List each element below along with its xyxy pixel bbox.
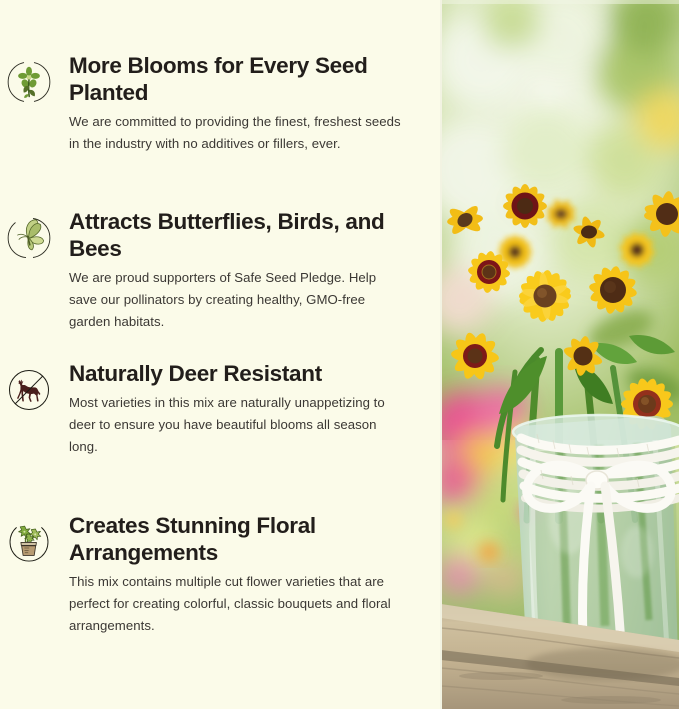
feature-title: Naturally Deer Resistant — [69, 360, 403, 387]
feature-icon-container — [0, 512, 54, 564]
photo-canvas — [441, 0, 679, 709]
features-panel: More Blooms for Every Seed Planted We ar… — [0, 0, 441, 709]
feature-icon-container — [0, 208, 54, 260]
flower-in-circle-icon — [7, 60, 51, 104]
feature-title: Attracts Butterflies, Birds, and Bees — [69, 208, 403, 262]
feature-title: More Blooms for Every Seed Planted — [69, 52, 403, 106]
feature-icon-container — [0, 52, 54, 104]
feature-text-block: Attracts Butterflies, Birds, and Bees We… — [54, 208, 441, 333]
feature-description: We are committed to providing the finest… — [69, 111, 403, 155]
feature-item-more-blooms: More Blooms for Every Seed Planted We ar… — [0, 52, 441, 155]
feature-item-attracts-pollinators: Attracts Butterflies, Birds, and Bees We… — [0, 208, 441, 333]
feature-description: We are proud supporters of Safe Seed Ple… — [69, 267, 403, 333]
panel-divider — [440, 0, 442, 709]
feature-text-block: Naturally Deer Resistant Most varieties … — [54, 360, 441, 458]
feature-description: This mix contains multiple cut flower va… — [69, 571, 403, 637]
feature-item-deer-resistant: Naturally Deer Resistant Most varieties … — [0, 360, 441, 458]
deer-no-entry-icon — [7, 368, 51, 412]
butterfly-in-circle-icon — [7, 216, 51, 260]
feature-icon-container — [0, 360, 54, 412]
feature-item-floral-arrangements: Creates Stunning Floral Arrangements Thi… — [0, 512, 441, 637]
product-feature-panel: More Blooms for Every Seed Planted We ar… — [0, 0, 679, 709]
potted-plant-in-circle-icon — [7, 520, 51, 564]
feature-text-block: More Blooms for Every Seed Planted We ar… — [54, 52, 441, 155]
feature-description: Most varieties in this mix are naturally… — [69, 392, 403, 458]
feature-text-block: Creates Stunning Floral Arrangements Thi… — [54, 512, 441, 637]
feature-title: Creates Stunning Floral Arrangements — [69, 512, 403, 566]
black-eyed-susan-bouquet-photo — [441, 0, 679, 709]
feature-list: More Blooms for Every Seed Planted We ar… — [0, 0, 441, 709]
